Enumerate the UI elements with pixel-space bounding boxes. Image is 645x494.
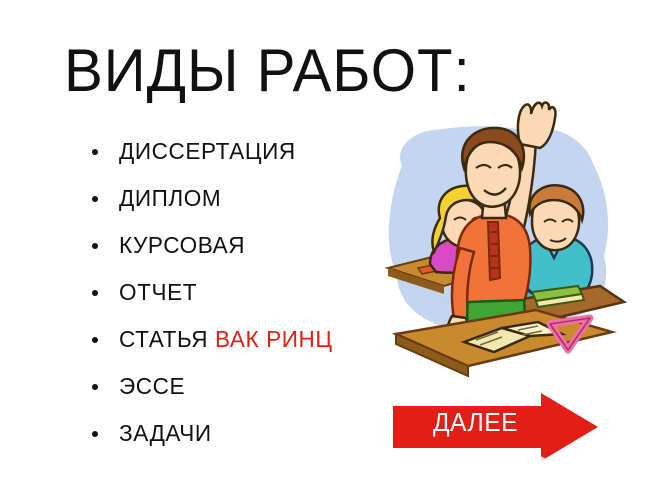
list-item-label: ЗАДАЧИ xyxy=(119,421,212,446)
list-item-label-text: СТАТЬЯ xyxy=(119,326,215,352)
students-illustration xyxy=(372,96,645,381)
list-item-label: ЭССЕ xyxy=(119,374,185,399)
list-item: КУРСОВАЯ xyxy=(92,222,392,269)
bullet-icon xyxy=(92,431,98,437)
list-item-label: ДИПЛОМ xyxy=(119,186,221,211)
list-item: ДИПЛОМ xyxy=(92,175,392,222)
list-item-label: КУРСОВАЯ xyxy=(119,233,245,258)
list-item-label-accent: ВАК РИНЦ xyxy=(215,326,333,352)
bullet-icon xyxy=(92,149,98,155)
list-item: ДИССЕРТАЦИЯ xyxy=(92,128,392,175)
center-student-placket xyxy=(488,222,500,280)
avito-wordmark: Avito xyxy=(567,460,622,488)
list-item-label: СТАТЬЯ ВАК РИНЦ xyxy=(119,327,333,352)
list-item-article: СТАТЬЯ ВАК РИНЦ xyxy=(92,316,392,363)
next-button[interactable]: ДАЛЕЕ xyxy=(393,390,598,464)
page-title: ВИДЫ РАБОТ: xyxy=(64,40,471,102)
next-button-label: ДАЛЕЕ xyxy=(409,407,542,437)
list-item-label: ДИССЕРТАЦИЯ xyxy=(119,139,296,164)
work-types-list: ДИССЕРТАЦИЯ ДИПЛОМ КУРСОВАЯ ОТЧЕТ СТАТЬЯ… xyxy=(92,128,392,457)
advertisement-slide: ВИДЫ РАБОТ: ДИССЕРТАЦИЯ ДИПЛОМ КУРСОВАЯ … xyxy=(0,0,645,494)
bullet-icon xyxy=(92,290,98,296)
list-item: ЭССЕ xyxy=(92,363,392,410)
list-item-label: ОТЧЕТ xyxy=(119,280,197,305)
bullet-icon xyxy=(92,243,98,249)
list-item: ЗАДАЧИ xyxy=(92,410,392,457)
bullet-icon xyxy=(92,337,98,343)
list-item: ОТЧЕТ xyxy=(92,269,392,316)
bullet-icon xyxy=(92,196,98,202)
bullet-icon xyxy=(92,384,98,390)
